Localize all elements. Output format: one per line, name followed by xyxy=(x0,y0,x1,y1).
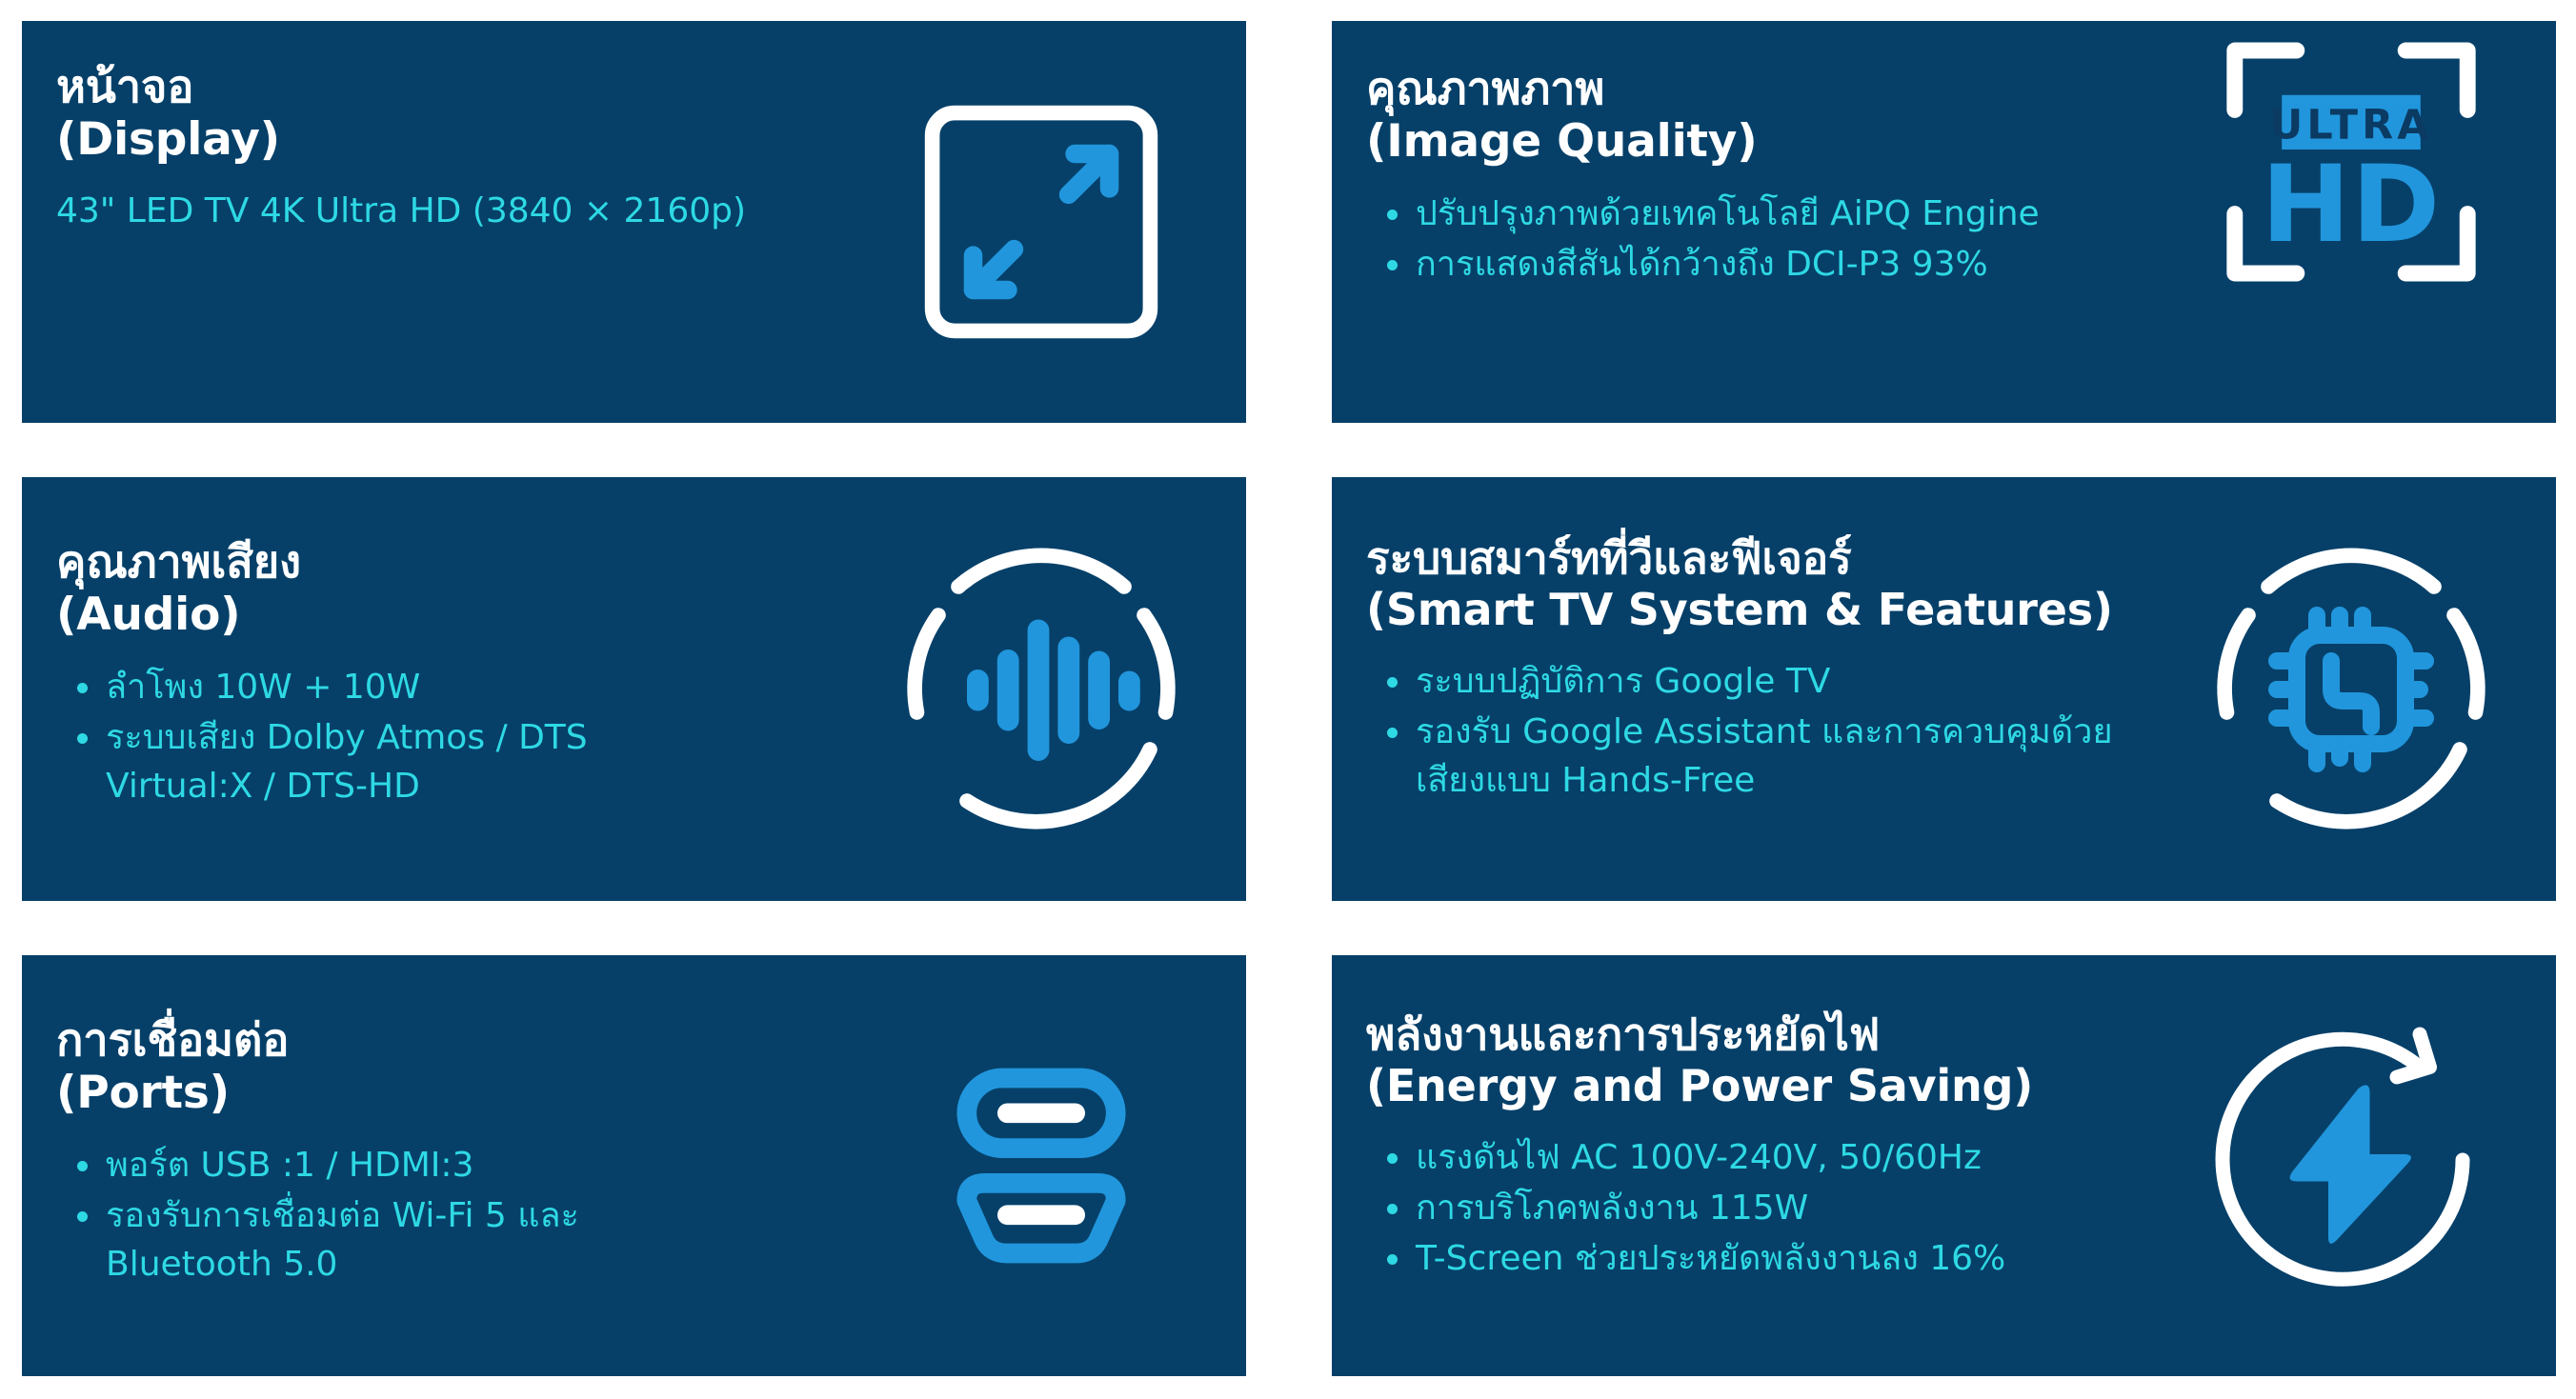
hd-label: HD xyxy=(2262,143,2442,267)
card-description: 43" LED TV 4K Ultra HD (3840 × 2160p) xyxy=(56,190,836,234)
list-item: แรงดันไฟ AC 100V-240V, 50/60Hz xyxy=(1383,1133,2146,1182)
card-title-english: (Image Quality) xyxy=(1366,115,2146,168)
display-expand-icon xyxy=(917,98,1165,346)
list-item: ลำโพง 10W + 10W xyxy=(73,663,836,711)
list-item: รองรับการเชื่อมต่อ Wi-Fi 5 และ Bluetooth… xyxy=(73,1191,658,1289)
card-text-block: คุณภาพเสียง (Audio) ลำโพง 10W + 10W ระบบ… xyxy=(22,477,836,901)
feature-list: ลำโพง 10W + 10W ระบบเสียง Dolby Atmos / … xyxy=(56,663,836,812)
power-bolt-icon xyxy=(2208,1023,2494,1309)
feature-list: ระบบปฏิบัติการ Google TV รองรับ Google A… xyxy=(1366,657,2146,807)
card-title-english: (Display) xyxy=(56,113,836,166)
spec-card-energy: พลังงานและการประหยัดไฟ (Energy and Power… xyxy=(1332,955,2556,1376)
card-title-thai: การเชื่อมต่อ xyxy=(56,1014,836,1067)
page-title: การเชื่อมต่อ (Ports) xyxy=(56,1014,836,1120)
ultra-hd-icon: ULTRA HD xyxy=(2213,38,2489,286)
spec-card-audio: คุณภาพเสียง (Audio) ลำโพง 10W + 10W ระบบ… xyxy=(22,477,1246,901)
card-text-block: พลังงานและการประหยัดไฟ (Energy and Power… xyxy=(1332,955,2146,1376)
page-title: พลังงานและการประหยัดไฟ (Energy and Power… xyxy=(1366,1009,2146,1112)
list-item: การแสดงสีสันได้กว้างถึง DCI-P3 93% xyxy=(1383,240,2146,289)
list-item: ระบบปฏิบัติการ Google TV xyxy=(1383,657,2146,706)
card-icon-slot: ULTRA HD xyxy=(2146,21,2556,423)
card-icon-slot xyxy=(2146,477,2556,901)
card-title-thai: คุณภาพเสียง xyxy=(56,536,836,589)
ultra-label: ULTRA xyxy=(2269,101,2432,149)
card-icon-slot xyxy=(836,477,1246,901)
card-title-thai: คุณภาพภาพ xyxy=(1366,63,2146,115)
spec-card-image-quality: คุณภาพภาพ (Image Quality) ปรับปรุงภาพด้ว… xyxy=(1332,21,2556,423)
card-text-block: ระบบสมาร์ทที่วีและฟีเจอร์ (Smart TV Syst… xyxy=(1332,477,2146,901)
card-title-thai: พลังงานและการประหยัดไฟ xyxy=(1366,1009,2146,1060)
list-item: การบริโภคพลังงาน 115W xyxy=(1383,1184,2146,1232)
spec-card-smart-tv: ระบบสมาร์ทที่วีและฟีเจอร์ (Smart TV Syst… xyxy=(1332,477,2556,901)
card-title-english: (Ports) xyxy=(56,1067,836,1119)
list-item: พอร์ต USB :1 / HDMI:3 xyxy=(73,1141,836,1189)
feature-list: ปรับปรุงภาพด้วยเทคโนโลยี AiPQ Engine การ… xyxy=(1366,190,2146,290)
ports-connector-icon xyxy=(932,1056,1151,1275)
cpu-chip-icon xyxy=(2208,547,2494,832)
bolt-shape xyxy=(2290,1085,2411,1243)
spec-card-grid: หน้าจอ (Display) 43" LED TV 4K Ultra HD … xyxy=(22,21,2556,1377)
card-title-english: (Audio) xyxy=(56,589,836,641)
card-icon-slot xyxy=(836,21,1246,423)
card-icon-slot xyxy=(2146,955,2556,1376)
card-title-thai: ระบบสมาร์ทที่วีและฟีเจอร์ xyxy=(1366,532,2146,584)
card-text-block: คุณภาพภาพ (Image Quality) ปรับปรุงภาพด้ว… xyxy=(1332,21,2146,423)
page-title: หน้าจอ (Display) xyxy=(56,61,836,167)
card-icon-slot xyxy=(836,955,1246,1376)
sound-wave-icon xyxy=(898,547,1184,832)
page-title: คุณภาพภาพ (Image Quality) xyxy=(1366,63,2146,169)
spec-card-ports: การเชื่อมต่อ (Ports) พอร์ต USB :1 / HDMI… xyxy=(22,955,1246,1376)
list-item: รองรับ Google Assistant และการควบคุมด้วย… xyxy=(1383,708,2121,805)
page-title: คุณภาพเสียง (Audio) xyxy=(56,536,836,642)
card-text-block: การเชื่อมต่อ (Ports) พอร์ต USB :1 / HDMI… xyxy=(22,955,836,1376)
card-title-thai: หน้าจอ xyxy=(56,61,836,113)
spec-card-display: หน้าจอ (Display) 43" LED TV 4K Ultra HD … xyxy=(22,21,1246,423)
feature-list: แรงดันไฟ AC 100V-240V, 50/60Hz การบริโภค… xyxy=(1366,1133,2146,1285)
card-title-english: (Energy and Power Saving) xyxy=(1366,1060,2146,1111)
page-title: ระบบสมาร์ทที่วีและฟีเจอร์ (Smart TV Syst… xyxy=(1366,532,2146,636)
feature-list: พอร์ต USB :1 / HDMI:3 รองรับการเชื่อมต่อ… xyxy=(56,1141,836,1290)
card-text-block: หน้าจอ (Display) 43" LED TV 4K Ultra HD … xyxy=(22,21,836,423)
list-item: T-Screen ช่วยประหยัดพลังงานลง 16% xyxy=(1383,1234,2146,1283)
list-item: ปรับปรุงภาพด้วยเทคโนโลยี AiPQ Engine xyxy=(1383,190,2146,238)
card-title-english: (Smart TV System & Features) xyxy=(1366,584,2146,635)
list-item: ระบบเสียง Dolby Atmos / DTS Virtual:X / … xyxy=(73,713,696,810)
